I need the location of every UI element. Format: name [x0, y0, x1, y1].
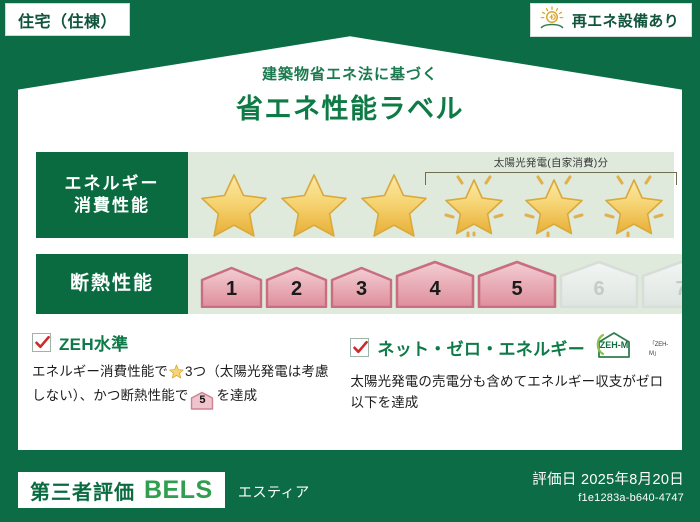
grade-number: 5 — [511, 278, 522, 308]
star-icon-solar — [514, 167, 594, 237]
star-icon-solar — [594, 167, 674, 237]
energy-performance-label-box: エネルギー 消費性能 — [36, 152, 188, 238]
renewable-energy-badge: 再エネ設備あり — [530, 3, 692, 37]
grade-number: 3 — [356, 278, 367, 308]
grade-number: 6 — [593, 278, 604, 308]
criterion-zeh-title: ZEH水準 — [59, 330, 129, 355]
insulation-grades-area: 1 2 3 — [188, 254, 700, 314]
grade-number: 1 — [226, 278, 237, 308]
insulation-grade-1: 1 — [200, 266, 263, 308]
energy-label-line2: 消費性能 — [74, 195, 150, 217]
energy-stars-area: 太陽光発電(自家消費)分 — [188, 152, 674, 238]
star-icon — [354, 167, 434, 237]
insulation-grade-6: 6 — [559, 260, 639, 308]
evaluation-date-label: 評価日 — [532, 472, 576, 488]
criterion-net-zero-body: 太陽光発電の売電分も含めてエネルギー収支がゼロ以下を達成 — [350, 372, 668, 414]
zeh-m-logo-caption: 「ZEH-M」 — [649, 339, 668, 357]
insulation-grade-5: 5 — [477, 260, 557, 308]
criterion-net-zero-header: ネット・ゼロ・エネルギー ZEH-M 「ZEH-M」 — [350, 330, 668, 365]
renewable-badge-label: 再エネ設備あり — [572, 10, 679, 31]
star-icon-solar — [434, 167, 514, 237]
bels-certification-box: 第三者評価 BELS — [18, 472, 225, 508]
criterion-zeh-body: エネルギー消費性能で3つ（太陽光発電は考慮しない）、かつ断熱性能で5を達成 — [32, 362, 332, 408]
star-icon — [274, 167, 354, 237]
energy-performance-row: エネルギー 消費性能 太陽光発電(自家消費)分 — [36, 152, 664, 238]
insulation-grade-7: 7 — [641, 260, 700, 308]
grade-number: 7 — [675, 278, 686, 308]
criterion-net-zero-title: ネット・ゼロ・エネルギー — [377, 335, 585, 360]
builder-name: エスティア — [238, 482, 310, 502]
check-icon — [350, 338, 369, 357]
svg-text:ZEH-M: ZEH-M — [600, 340, 629, 350]
document-type-label: 住宅（住棟） — [18, 8, 117, 32]
star-rating — [188, 167, 674, 237]
criterion-net-zero: ネット・ゼロ・エネルギー ZEH-M 「ZEH-M」 太陽光発電の売電分も含めて… — [350, 330, 668, 414]
criterion-zeh-text-3: を達成 — [216, 388, 257, 403]
label-title: 省エネ性能ラベル — [18, 87, 682, 126]
label-panel: 建築物省エネ法に基づく 省エネ性能ラベル エネルギー 消費性能 太陽光発電(自家… — [18, 30, 682, 450]
check-icon — [32, 333, 51, 352]
grade-number: 2 — [291, 278, 302, 308]
label-title-block: 建築物省エネ法に基づく 省エネ性能ラベル — [18, 63, 682, 126]
insulation-performance-row: 断熱性能 — [36, 254, 664, 314]
star-icon — [194, 167, 274, 237]
evaluation-info: 評価日 2025年8月20日 f1e1283a-b640-4747 — [532, 468, 684, 504]
criterion-zeh-header: ZEH水準 — [32, 330, 332, 355]
insulation-label: 断熱性能 — [70, 272, 154, 296]
insulation-grade-2: 2 — [265, 266, 328, 308]
energy-label-line1: エネルギー — [65, 173, 160, 195]
inline-grade-number: 5 — [190, 391, 214, 410]
insulation-grade-scale: 1 2 3 — [188, 260, 700, 308]
bels-logo-text: BELS — [144, 476, 213, 505]
evaluation-date-row: 評価日 2025年8月20日 — [532, 468, 684, 489]
energy-performance-label: 住宅（住棟） 再エネ設備あり — [0, 0, 700, 522]
inline-grade-badge: 5 — [190, 391, 214, 408]
third-party-evaluation-label: 第三者評価 — [30, 476, 135, 505]
zeh-m-logo-icon: ZEH-M — [594, 330, 640, 365]
criterion-zeh: ZEH水準 エネルギー消費性能で3つ（太陽光発電は考慮しない）、かつ断熱性能で5… — [32, 330, 332, 414]
criteria-section: ZEH水準 エネルギー消費性能で3つ（太陽光発電は考慮しない）、かつ断熱性能で5… — [32, 330, 668, 414]
insulation-grade-3: 3 — [330, 266, 393, 308]
insulation-label-box: 断熱性能 — [36, 254, 188, 314]
evaluation-id: f1e1283a-b640-4747 — [532, 492, 684, 504]
insulation-grade-4: 4 — [395, 260, 475, 308]
solar-sun-icon — [539, 6, 565, 35]
label-subtitle: 建築物省エネ法に基づく — [18, 63, 682, 84]
label-footer: 第三者評価 BELS エスティア 評価日 2025年8月20日 f1e1283a… — [0, 460, 700, 522]
criterion-zeh-text-1: エネルギー消費性能で — [32, 364, 168, 379]
star-icon-inline — [169, 364, 184, 386]
grade-number: 4 — [429, 278, 440, 308]
document-type-tab: 住宅（住棟） — [5, 3, 130, 36]
evaluation-date-value: 2025年8月20日 — [581, 472, 684, 488]
